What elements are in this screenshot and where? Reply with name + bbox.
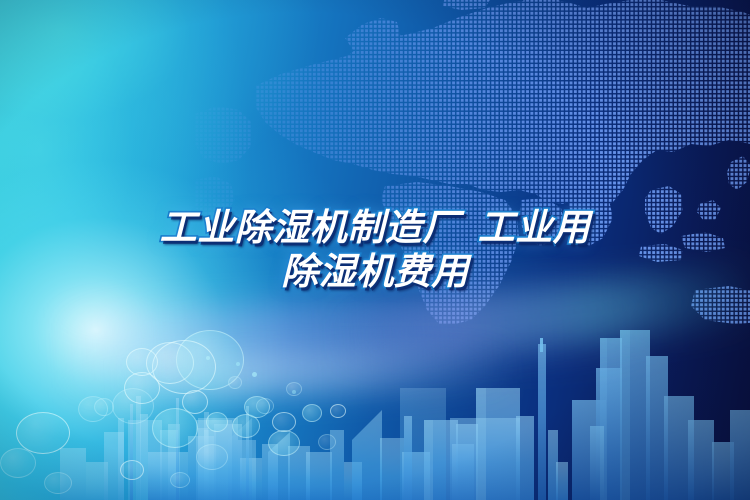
headline-line-2: 除湿机费用 [0, 250, 750, 294]
headline: 工业除湿机制造厂工业用 除湿机费用 [0, 206, 750, 294]
promo-banner: 工业除湿机制造厂工业用 除湿机费用 [0, 0, 750, 500]
headline-line-1-part-2: 工业用 [478, 206, 591, 249]
headline-line-1-part-1: 工业除湿机制造厂 [160, 206, 460, 249]
headline-line-1: 工业除湿机制造厂工业用 [0, 206, 750, 250]
